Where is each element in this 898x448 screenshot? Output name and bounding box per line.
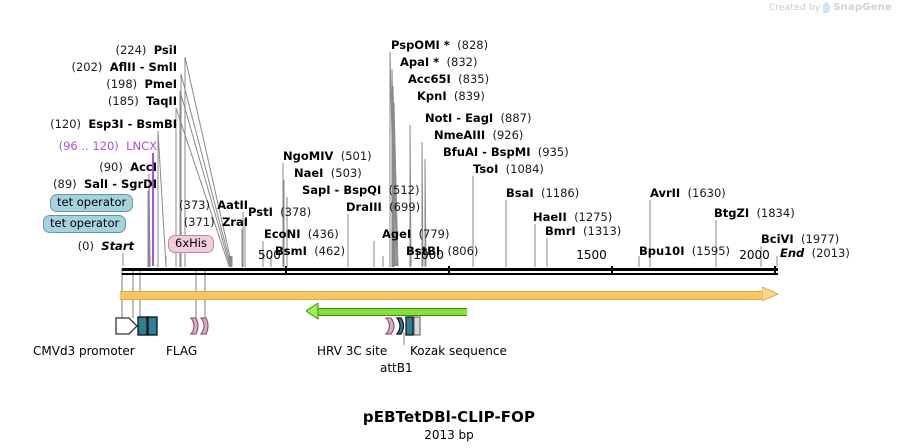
enzyme-position: (462) [314, 244, 345, 258]
ruler-tick-label-2000: 2000 [712, 248, 770, 262]
enzyme-label-taqii[interactable]: (185) TaqII [108, 95, 177, 107]
label-spacer [102, 60, 109, 74]
enzyme-position: (1313) [583, 224, 621, 238]
snapgene-logo-icon [823, 2, 831, 13]
ruler-tick-500 [285, 266, 287, 274]
enzyme-position: (90) [99, 160, 123, 174]
enzyme-position: (828) [457, 38, 488, 52]
enzyme-label-agei[interactable]: AgeI (779) [382, 228, 449, 240]
enzyme-label-nmeaiii[interactable]: NmeAIII (926) [434, 129, 523, 141]
enzyme-position: (0) [78, 239, 94, 253]
enzyme-label-kpni[interactable]: KpnI (839) [417, 90, 485, 102]
snapgene-linear-map: Created by SnapGene (224) PsiI(202) AflI… [0, 0, 898, 448]
enzyme-position: (806) [447, 244, 478, 258]
enzyme-label-bsai[interactable]: BsaI (1186) [506, 187, 579, 199]
ruler-baseline [122, 268, 778, 271]
label-spacer [567, 210, 574, 224]
enzyme-position: (935) [538, 145, 569, 159]
enzyme-label-aatii[interactable]: (373) AatII [179, 199, 248, 211]
enzyme-label-econi[interactable]: EcoNI (436) [264, 228, 339, 240]
enzyme-name: BfuAI - BspMI [443, 145, 530, 159]
enzyme-name: BciVI [761, 232, 794, 246]
enzyme-label-lncx[interactable]: (96 .. 120) LNCX [59, 140, 157, 152]
label-spacer [411, 227, 418, 241]
bottom-feature-label-flag[interactable]: FLAG [166, 344, 197, 358]
enzyme-position: (1630) [688, 186, 726, 200]
enzyme-name: SalI - SgrDI [84, 177, 157, 191]
feature-glyph-flag[interactable] [189, 312, 211, 340]
cds-arrowhead-icon [306, 303, 324, 320]
enzyme-position: (202) [72, 60, 103, 74]
enzyme-name: SapI - BspQI [302, 183, 381, 197]
label-spacer [119, 139, 126, 153]
enzyme-position: (378) [280, 205, 311, 219]
enzyme-label-start[interactable]: (0) Start [78, 240, 134, 252]
enzyme-name: Start [101, 239, 134, 253]
label-spacer [493, 111, 500, 125]
enzyme-position: (120) [50, 117, 81, 131]
enzyme-position: (1084) [506, 162, 544, 176]
enzyme-name: BtgZI [714, 206, 749, 220]
enzyme-label-bcivi[interactable]: BciVI (1977) [761, 233, 839, 245]
enzyme-name: Acc65I [408, 72, 451, 86]
enzyme-name: ZraI [222, 215, 248, 229]
enzyme-label-draiii[interactable]: DraIII (699) [346, 201, 420, 213]
enzyme-label-sapi[interactable]: SapI - BspQI (512) [302, 184, 419, 196]
enzyme-label-ngomiv[interactable]: NgoMIV (501) [283, 150, 372, 162]
label-spacer [534, 186, 541, 200]
enzyme-position: (501) [341, 149, 372, 163]
ruler-baseline-shadow [122, 273, 778, 275]
enzyme-label-aflii[interactable]: (202) AflII - SmlI [72, 61, 178, 73]
enzyme-label-bfuai[interactable]: BfuAI - BspMI (935) [443, 146, 569, 158]
kozak-attb1-icon [396, 312, 422, 340]
enzyme-position: (926) [492, 128, 523, 142]
enzyme-position: (1977) [801, 232, 839, 246]
enzyme-label-acci[interactable]: (90) AccI [99, 161, 157, 173]
enzyme-position: (224) [115, 43, 146, 57]
enzyme-position: (198) [106, 77, 137, 91]
ruler-tick-2000 [774, 266, 776, 274]
bottom-feature-label-kozak-sequence[interactable]: Kozak sequence [410, 344, 507, 358]
enzyme-position: (2013) [812, 246, 850, 260]
enzyme-name: TsoI [473, 162, 498, 176]
promoter-arrow-icon [115, 312, 159, 340]
enzyme-label-pmei[interactable]: (198) PmeI [106, 78, 177, 90]
label-spacer [323, 166, 330, 180]
watermark-created-by: Created by [769, 3, 821, 13]
ruler-tick-1500 [611, 266, 613, 274]
enzyme-label-btgzi[interactable]: BtgZI (1834) [714, 207, 795, 219]
enzyme-position: (185) [108, 94, 139, 108]
label-spacer [146, 43, 153, 57]
enzyme-label-acc65i[interactable]: Acc65I (835) [408, 73, 489, 85]
label-spacer [381, 183, 388, 197]
label-spacer [530, 145, 537, 159]
watermark-brand: SnapGene [833, 2, 892, 13]
enzyme-label-naei[interactable]: NaeI (503) [294, 167, 362, 179]
plasmid-length: 2013 bp [0, 428, 898, 442]
enzyme-name: PmeI [145, 77, 178, 91]
enzyme-name: AccI [130, 160, 157, 174]
enzyme-name: PsiI [154, 43, 177, 57]
label-spacer [684, 244, 691, 258]
label-spacer [137, 77, 144, 91]
enzyme-name: BsaI [506, 186, 534, 200]
enzyme-label-psti[interactable]: PstI (378) [248, 206, 311, 218]
enzyme-name: NaeI [294, 166, 323, 180]
enzyme-name: HaeII [533, 210, 567, 224]
enzyme-name: DraIII [346, 200, 382, 214]
enzyme-name: AgeI [382, 227, 411, 241]
backbone-arrowhead-icon [762, 286, 786, 304]
enzyme-position: (839) [454, 89, 485, 103]
label-spacer [139, 94, 146, 108]
enzyme-position: (1275) [574, 210, 612, 224]
leader-line-angled-sali [148, 191, 149, 266]
enzyme-label-tsoi[interactable]: TsoI (1084) [473, 163, 544, 175]
enzyme-position: (835) [458, 72, 489, 86]
enzyme-position: (503) [331, 166, 362, 180]
enzyme-position: (512) [389, 183, 420, 197]
flag-tag-icon [189, 312, 211, 340]
label-spacer [576, 224, 583, 238]
page-title: pEBTetDBl-CLIP-FOP [0, 408, 898, 426]
label-spacer [300, 227, 307, 241]
feature-glyph-kozak-attb1[interactable] [396, 312, 422, 340]
ruler-tick-label-500: 500 [223, 248, 281, 262]
enzyme-name: NgoMIV [283, 149, 333, 163]
enzyme-label-psii[interactable]: (224) PsiI [115, 44, 177, 56]
snapgene-watermark: Created by SnapGene [769, 2, 892, 13]
enzyme-position: (779) [419, 227, 450, 241]
enzyme-position: (1186) [541, 186, 579, 200]
enzyme-name: PstI [248, 205, 273, 219]
enzyme-position: (96 .. 120) [59, 139, 119, 153]
label-spacer [804, 246, 811, 260]
enzyme-name: Esp3I - BsmBI [88, 117, 177, 131]
enzyme-label-pspomi[interactable]: PspOMI * (828) [391, 39, 488, 51]
label-spacer [447, 89, 454, 103]
bottom-feature-label-attb1[interactable]: attB1 [380, 361, 413, 375]
backbone-track [120, 291, 762, 300]
enzyme-name: End [780, 246, 804, 260]
enzyme-label-apai[interactable]: ApaI * (832) [400, 56, 477, 68]
enzyme-name: Bpu10I [639, 244, 684, 258]
feature-pill-tet-operator-1[interactable]: tet operator [50, 194, 133, 212]
enzyme-label-esp3i[interactable]: (120) Esp3I - BsmBI [50, 118, 177, 130]
enzyme-position: (373) [179, 198, 210, 212]
ruler-tick-label-1500: 1500 [549, 248, 607, 262]
ruler-tick-label-1000: 1000 [386, 248, 444, 262]
enzyme-name: LNCX [126, 139, 157, 153]
enzyme-name: AflII - SmlI [110, 60, 177, 74]
enzyme-position: (436) [308, 227, 339, 241]
feature-pill-his-tag[interactable]: 6xHis [168, 235, 214, 253]
label-spacer [333, 149, 340, 163]
enzyme-label-zrai[interactable]: (371) ZraI [184, 216, 248, 228]
bottom-feature-label-cmvd3-promoter[interactable]: CMVd3 promoter [33, 344, 135, 358]
enzyme-name: AvrII [650, 186, 680, 200]
enzyme-label-end[interactable]: End (2013) [780, 247, 850, 259]
bottom-feature-label-hrv3c-site[interactable]: HRV 3C site [317, 344, 387, 358]
label-spacer [77, 177, 84, 191]
enzyme-name: KpnI [417, 89, 447, 103]
enzyme-position: (832) [447, 55, 478, 69]
enzyme-label-noti[interactable]: NotI - EagI (887) [425, 112, 531, 124]
enzyme-label-haeii[interactable]: HaeII (1275) [533, 211, 612, 223]
enzyme-name: PspOMI * [391, 38, 450, 52]
enzyme-position: (699) [389, 200, 420, 214]
enzyme-position: (887) [501, 111, 532, 125]
feature-pill-tet-operator-2[interactable]: tet operator [43, 215, 126, 233]
label-spacer [215, 215, 222, 229]
feature-glyph-cmvd3-promoter[interactable] [115, 312, 159, 340]
enzyme-name: TaqII [146, 94, 177, 108]
enzyme-name: BmrI [545, 224, 576, 238]
enzyme-name: NmeAIII [434, 128, 485, 142]
hrv3c-site-icon [383, 312, 397, 340]
enzyme-name: AatII [217, 198, 248, 212]
enzyme-position: (371) [184, 215, 215, 229]
enzyme-position: (89) [53, 177, 77, 191]
enzyme-label-bmri[interactable]: BmrI (1313) [545, 225, 621, 237]
enzyme-label-avrii[interactable]: AvrII (1630) [650, 187, 726, 199]
label-spacer [498, 162, 505, 176]
label-spacer [680, 186, 687, 200]
enzyme-name: NotI - EagI [425, 111, 493, 125]
enzyme-name: ApaI * [400, 55, 439, 69]
enzyme-name: EcoNI [264, 227, 300, 241]
label-spacer [439, 55, 446, 69]
ruler-tick-1000 [448, 266, 450, 274]
label-spacer [794, 232, 801, 246]
enzyme-label-bsmi[interactable]: BsmI (462) [275, 245, 345, 257]
leader-line-angled-esp3i [158, 131, 166, 266]
enzyme-label-sali[interactable]: (89) SalI - SgrDI [53, 178, 157, 190]
enzyme-position: (1834) [756, 206, 794, 220]
feature-glyph-hrv3c-site[interactable] [383, 312, 397, 340]
